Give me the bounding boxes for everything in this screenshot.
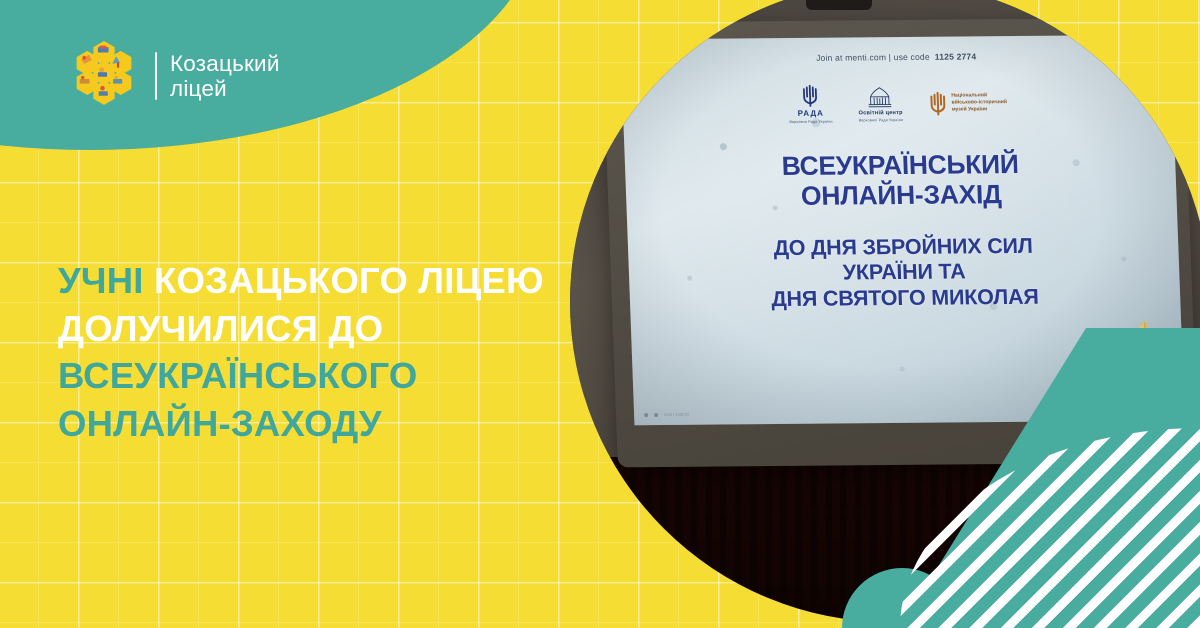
headline-part-3: ВСЕУКРАЇНСЬКОГО ОНЛАЙН-ЗАХОДУ <box>58 355 417 443</box>
slide-logo-education-center: Освітній центр Верховної Ради України <box>857 86 903 122</box>
building-outline-icon <box>867 86 894 108</box>
slide-logo-museum: Національний військово-історичний музей … <box>928 91 1007 116</box>
page-title: УЧНІ КОЗАЦЬКОГО ЛІЦЕЮ ДОЛУЧИЛИСЯ ДО ВСЕУ… <box>58 257 578 447</box>
slide-chip-badge: Only Online <box>1127 44 1165 53</box>
pause-icon[interactable] <box>654 413 658 417</box>
menti-prompt: Join at menti.com | use code <box>816 52 930 63</box>
slide-subtitle: ДО ДНЯ ЗБРОЙНИХ СИЛ УКРАЇНИ ТА ДНЯ СВЯТО… <box>769 234 1039 312</box>
honeycomb-hexagon-logo-icon <box>66 38 142 114</box>
slide-title: ВСЕУКРАЇНСЬКИЙ ОНЛАЙН-ЗАХІД <box>781 150 1020 212</box>
slide-logo-rada-sub: Верховна Рада України <box>789 120 832 124</box>
slide-timecode: 0:00 / 1:02:00 <box>664 412 689 417</box>
slide-logo-rada: РАДА Верховна Рада України <box>788 85 833 124</box>
play-icon[interactable] <box>644 413 648 417</box>
slide-logo-education-sub: Верховної Ради України <box>859 118 904 122</box>
logo-divider <box>155 52 157 100</box>
poster-canvas: Козацький ліцей УЧНІ КОЗАЦЬКОГО ЛІЦЕЮ ДО… <box>0 0 1200 628</box>
headline-part-1: УЧНІ <box>58 260 154 301</box>
trident-blue-icon <box>801 85 819 107</box>
menti-code: 1125 2774 <box>935 51 977 61</box>
slide-logo-education-caption: Освітній центр <box>859 110 903 116</box>
slide-logo-museum-caption: Національний військово-історичний музей … <box>951 92 1007 113</box>
menti-join-line: Join at menti.com | use code1125 2774 <box>816 51 977 62</box>
projector-mount <box>806 0 872 10</box>
slide-player-controls[interactable]: 0:00 / 1:02:00 <box>644 412 689 417</box>
slide-partner-logos: РАДА Верховна Рада України Освітній цент… <box>788 83 1008 124</box>
brand-name: Козацький ліцей <box>170 51 280 101</box>
slide-logo-rada-caption: РАДА <box>797 109 824 118</box>
trident-orange-icon <box>928 91 947 115</box>
brand-logo-lockup[interactable]: Козацький ліцей <box>66 38 280 114</box>
